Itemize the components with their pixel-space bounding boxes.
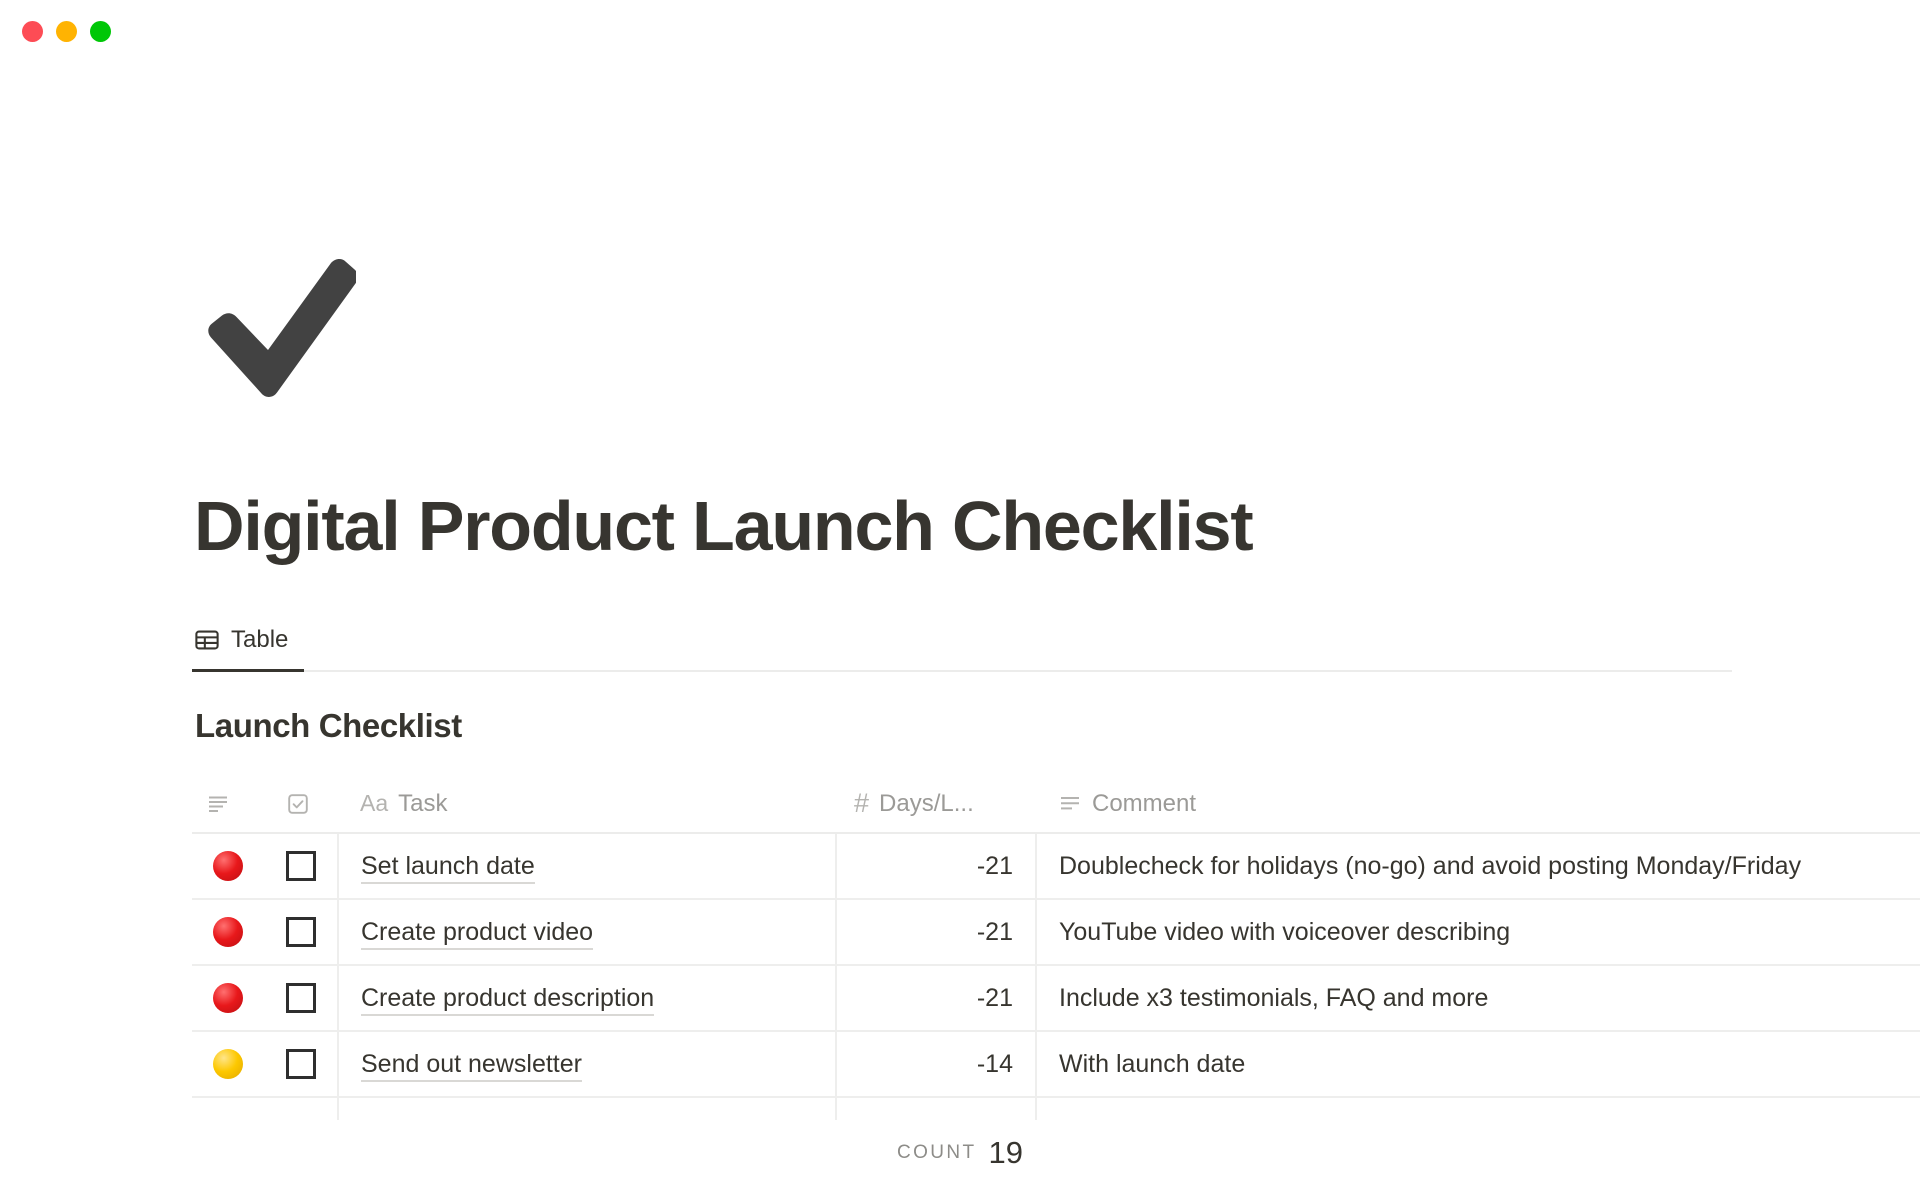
table-row[interactable]: Create product description -21 Include x… bbox=[192, 965, 1920, 1031]
row-task-cell[interactable] bbox=[338, 1097, 836, 1120]
column-header-done[interactable] bbox=[264, 775, 338, 833]
count-label: Count bbox=[897, 1142, 977, 1164]
checkbox-icon bbox=[286, 792, 310, 816]
row-checkbox-cell[interactable] bbox=[264, 1097, 338, 1120]
view-tabbar: Table bbox=[192, 610, 1732, 672]
row-days-cell[interactable] bbox=[836, 1097, 1036, 1120]
row-comment-cell[interactable] bbox=[1036, 1097, 1920, 1120]
list-lines-icon bbox=[206, 792, 230, 816]
row-status-cell[interactable] bbox=[192, 899, 264, 965]
row-checkbox[interactable] bbox=[286, 917, 316, 947]
database-footer-count[interactable]: Count 19 bbox=[0, 1123, 1920, 1183]
database-title: Launch Checklist bbox=[195, 707, 462, 745]
table-icon bbox=[194, 627, 220, 653]
row-checkbox[interactable] bbox=[286, 851, 316, 881]
row-checkbox-cell[interactable] bbox=[264, 833, 338, 899]
count-value: 19 bbox=[989, 1135, 1023, 1171]
heavy-check-mark-icon[interactable] bbox=[196, 244, 356, 404]
page-content: Digital Product Launch Checklist Table L… bbox=[0, 0, 1920, 1200]
text-lines-icon bbox=[1058, 792, 1082, 816]
column-header-status[interactable] bbox=[192, 775, 264, 833]
row-status-cell[interactable] bbox=[192, 965, 264, 1031]
task-link[interactable]: Create product description bbox=[361, 984, 654, 1016]
row-checkbox-cell[interactable] bbox=[264, 1031, 338, 1097]
database-table-scroll[interactable]: Aa Task # Days/L... bbox=[192, 775, 1920, 1120]
column-header-days[interactable]: # Days/L... bbox=[836, 775, 1036, 833]
row-checkbox[interactable] bbox=[286, 983, 316, 1013]
tab-table[interactable]: Table bbox=[192, 610, 304, 672]
table-row[interactable]: Set launch date -21 Doublecheck for holi… bbox=[192, 833, 1920, 899]
row-comment-cell[interactable]: YouTube video with voiceover describing bbox=[1036, 899, 1920, 965]
column-header-days-label: Days/L... bbox=[879, 790, 974, 818]
task-link[interactable]: Create product video bbox=[361, 918, 593, 950]
status-circle-yellow-icon bbox=[213, 1049, 243, 1079]
row-task-cell[interactable]: Send out newsletter bbox=[338, 1031, 836, 1097]
row-task-cell[interactable]: Set launch date bbox=[338, 833, 836, 899]
task-link[interactable]: Send out newsletter bbox=[361, 1050, 582, 1082]
task-link[interactable]: Set launch date bbox=[361, 852, 535, 884]
row-checkbox-cell[interactable] bbox=[264, 899, 338, 965]
row-days-cell[interactable]: -21 bbox=[836, 833, 1036, 899]
row-status-cell[interactable] bbox=[192, 1097, 264, 1120]
column-header-comment[interactable]: Comment bbox=[1036, 775, 1920, 833]
table-row[interactable]: Send out newsletter -14 With launch date bbox=[192, 1031, 1920, 1097]
table-header-row: Aa Task # Days/L... bbox=[192, 775, 1920, 833]
row-comment-cell[interactable]: Include x3 testimonials, FAQ and more bbox=[1036, 965, 1920, 1031]
status-circle-red-icon bbox=[213, 983, 243, 1013]
row-days-cell[interactable]: -21 bbox=[836, 965, 1036, 1031]
hash-number-icon: # bbox=[854, 790, 869, 817]
row-comment-cell[interactable]: Doublecheck for holidays (no-go) and avo… bbox=[1036, 833, 1920, 899]
database-table: Aa Task # Days/L... bbox=[192, 775, 1920, 1120]
column-header-task[interactable]: Aa Task bbox=[338, 775, 836, 833]
row-task-cell[interactable]: Create product video bbox=[338, 899, 836, 965]
row-checkbox[interactable] bbox=[286, 1049, 316, 1079]
page-title: Digital Product Launch Checklist bbox=[194, 484, 1252, 568]
row-status-cell[interactable] bbox=[192, 1031, 264, 1097]
column-header-task-label: Task bbox=[398, 790, 447, 818]
status-circle-red-icon bbox=[213, 851, 243, 881]
row-days-cell[interactable]: -21 bbox=[836, 899, 1036, 965]
tab-table-label: Table bbox=[231, 626, 288, 654]
column-header-comment-label: Comment bbox=[1092, 790, 1196, 818]
row-task-cell[interactable]: Create product description bbox=[338, 965, 836, 1031]
row-days-cell[interactable]: -14 bbox=[836, 1031, 1036, 1097]
row-comment-cell[interactable]: With launch date bbox=[1036, 1031, 1920, 1097]
status-circle-red-icon bbox=[213, 917, 243, 947]
row-status-cell[interactable] bbox=[192, 833, 264, 899]
table-row[interactable] bbox=[192, 1097, 1920, 1120]
table-row[interactable]: Create product video -21 YouTube video w… bbox=[192, 899, 1920, 965]
aa-text-icon: Aa bbox=[360, 792, 388, 815]
row-checkbox-cell[interactable] bbox=[264, 965, 338, 1031]
